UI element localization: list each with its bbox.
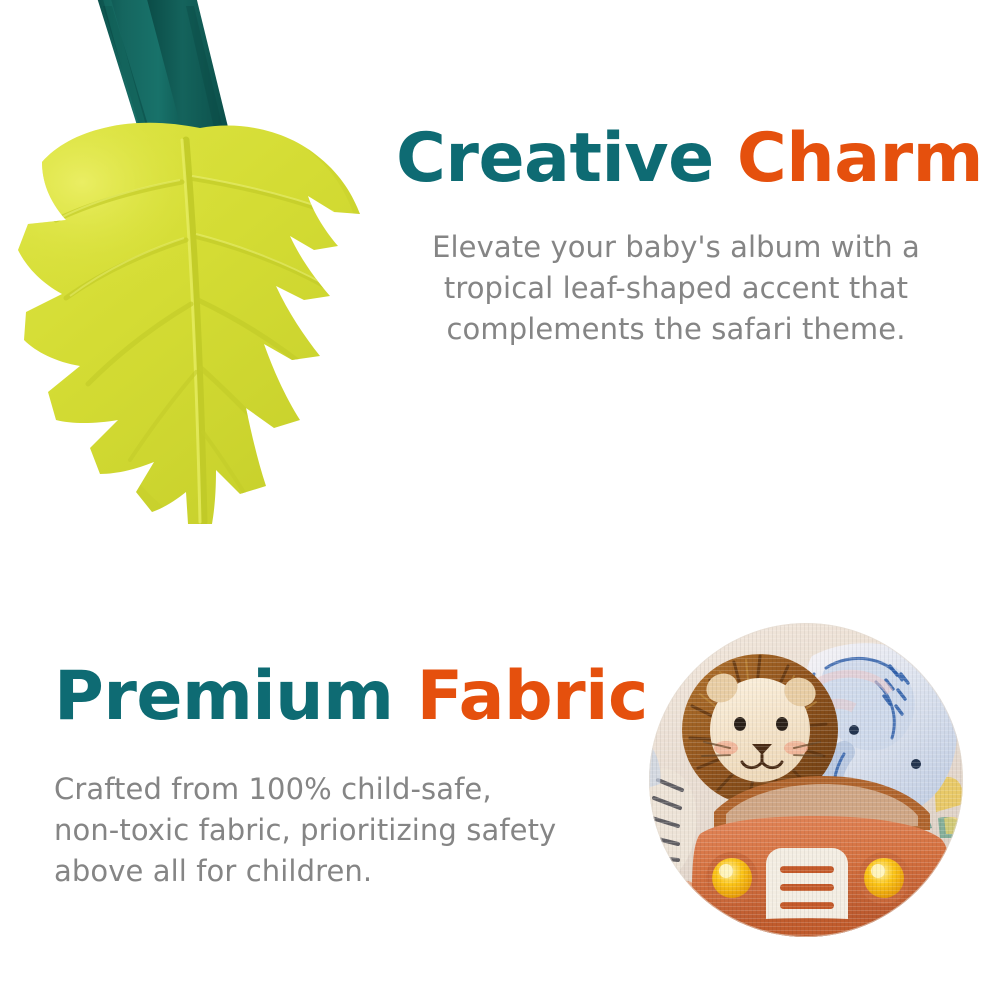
section-creative-charm: Creative Charm Elevate your baby's album… (0, 0, 1000, 580)
infographic-page: Creative Charm Elevate your baby's album… (0, 0, 1000, 1000)
body-line: non-toxic fabric, prioritizing safety (54, 813, 556, 847)
heading-word-primary: Creative (396, 119, 714, 198)
body-creative-charm: Elevate your baby's album with atropical… (396, 227, 974, 350)
body-line: tropical leaf-shaped accent that (444, 271, 908, 305)
section-premium-fabric: Premium Fabric Crafted from 100% child-s… (0, 580, 1000, 1000)
leaf-blade (8, 110, 408, 560)
body-premium-fabric: Crafted from 100% child-safe,non-toxic f… (54, 769, 654, 892)
creative-charm-copy: Creative Charm Elevate your baby's album… (396, 124, 974, 350)
heading-creative-charm: Creative Charm (396, 124, 974, 195)
monstera-leaf-teether-photo (8, 0, 408, 560)
heading-word-accent: Charm (737, 119, 983, 198)
premium-fabric-copy: Premium Fabric Crafted from 100% child-s… (54, 662, 654, 892)
body-line: above all for children. (54, 854, 372, 888)
heading-word-accent: Fabric (417, 657, 648, 736)
body-line: Crafted from 100% child-safe, (54, 772, 492, 806)
heading-premium-fabric: Premium Fabric (54, 662, 654, 733)
body-line: Elevate your baby's album with a (432, 230, 920, 264)
safari-fabric-closeup-photo (648, 622, 964, 938)
body-line: complements the safari theme. (446, 312, 905, 346)
heading-word-primary: Premium (54, 657, 393, 736)
